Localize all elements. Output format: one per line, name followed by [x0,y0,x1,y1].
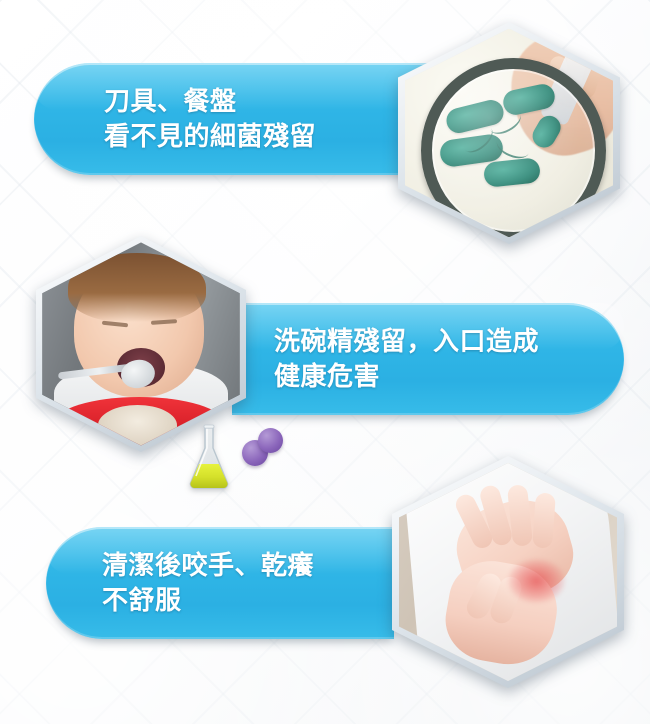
baby-scene [42,242,239,445]
banner-2-text: 洗碗精殘留，入口造成 健康危害 [274,324,539,395]
itchy-hand-scene [399,463,617,681]
flask-and-bubbles-decoration [186,418,296,490]
banner-3-text: 清潔後咬手、乾癢 不舒服 [102,548,314,619]
hexagon-frame [398,22,620,244]
hexagon-frame [392,456,624,688]
banner-detergent-residue[interactable]: 洗碗精殘留，入口造成 健康危害 [232,303,624,415]
banner-1-text: 刀具、餐盤 看不見的細菌殘留 [104,84,316,155]
hexagon-photo-inner [399,463,617,681]
flask-icon [186,424,232,490]
finger-icon [532,493,555,549]
hexagon-photo-inner [42,242,239,445]
photo-bacteria-magnifier [398,22,620,244]
photo-itchy-hand [392,456,624,688]
banner-dry-itchy-hands[interactable]: 清潔後咬手、乾癢 不舒服 [46,527,394,639]
food-porridge [98,405,177,446]
magnifier-lens-icon [421,58,606,237]
hexagon-photo-inner [405,29,614,238]
skin-rash-redness [508,559,565,603]
bacteria-scene [405,29,614,238]
poster-stage: 刀具、餐盤 看不見的細菌殘留 洗碗精殘留，入口造成 健康危害 清潔後咬手、乾癢 … [0,0,650,724]
baby-hair [68,253,206,322]
purple-bubble-icon [258,428,283,453]
